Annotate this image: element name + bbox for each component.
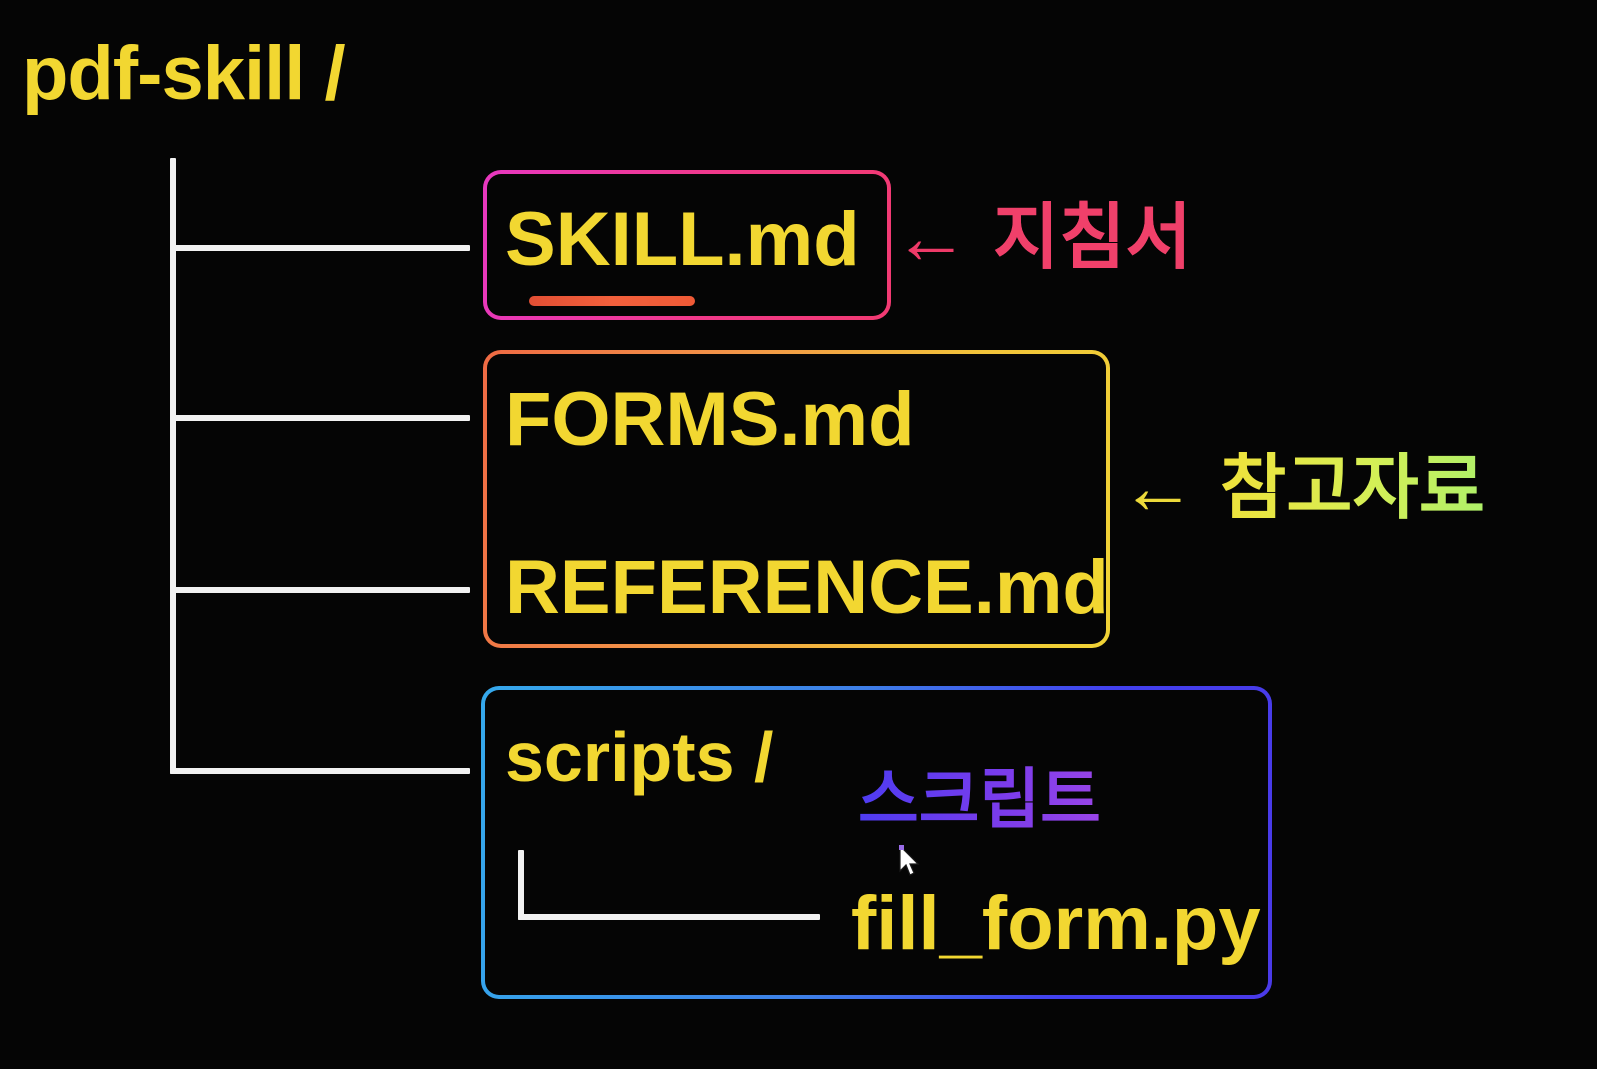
tree-branch-forms (170, 415, 470, 421)
forms-md-label: FORMS.md (505, 382, 915, 458)
scripts-folder-label: scripts / (505, 722, 773, 792)
reference-files-box[interactable]: FORMS.md REFERENCE.md (483, 350, 1110, 648)
guide-annotation-text: 지침서 (993, 202, 1192, 274)
diagram-canvas: pdf-skill / SKILL.md FORMS.md REFERENCE.… (0, 0, 1597, 1069)
reference-files-box-inner: FORMS.md REFERENCE.md (487, 354, 1106, 644)
tree-branch-scripts (170, 768, 470, 774)
skill-md-box[interactable]: SKILL.md (483, 170, 891, 320)
script-annotation: 스크립트 (858, 766, 1101, 832)
tree-branch-skill (170, 245, 470, 251)
guide-annotation: ← 지침서 (893, 200, 1192, 276)
reference-md-label: REFERENCE.md (505, 550, 1109, 626)
scripts-folder-box[interactable]: scripts / fill_form.py (481, 686, 1272, 999)
scripts-folder-box-inner: scripts / fill_form.py (485, 690, 1268, 995)
scripts-subtree-horizontal-line (518, 914, 820, 920)
script-annotation-text: 스크립트 (858, 766, 1101, 832)
reference-annotation: ← 참고자료 (1120, 450, 1485, 526)
fill-form-py-label: fill_form.py (851, 886, 1261, 962)
skill-md-underline (529, 296, 695, 306)
root-folder-label: pdf-skill / (22, 36, 345, 112)
left-arrow-icon: ← (893, 200, 967, 276)
skill-md-box-inner: SKILL.md (487, 174, 887, 316)
left-arrow-icon: ← (1120, 450, 1194, 526)
scripts-subtree-vertical-line (518, 850, 524, 920)
tree-branch-reference (170, 587, 470, 593)
reference-annotation-text: 참고자료 (1220, 452, 1485, 524)
skill-md-label: SKILL.md (505, 202, 860, 278)
